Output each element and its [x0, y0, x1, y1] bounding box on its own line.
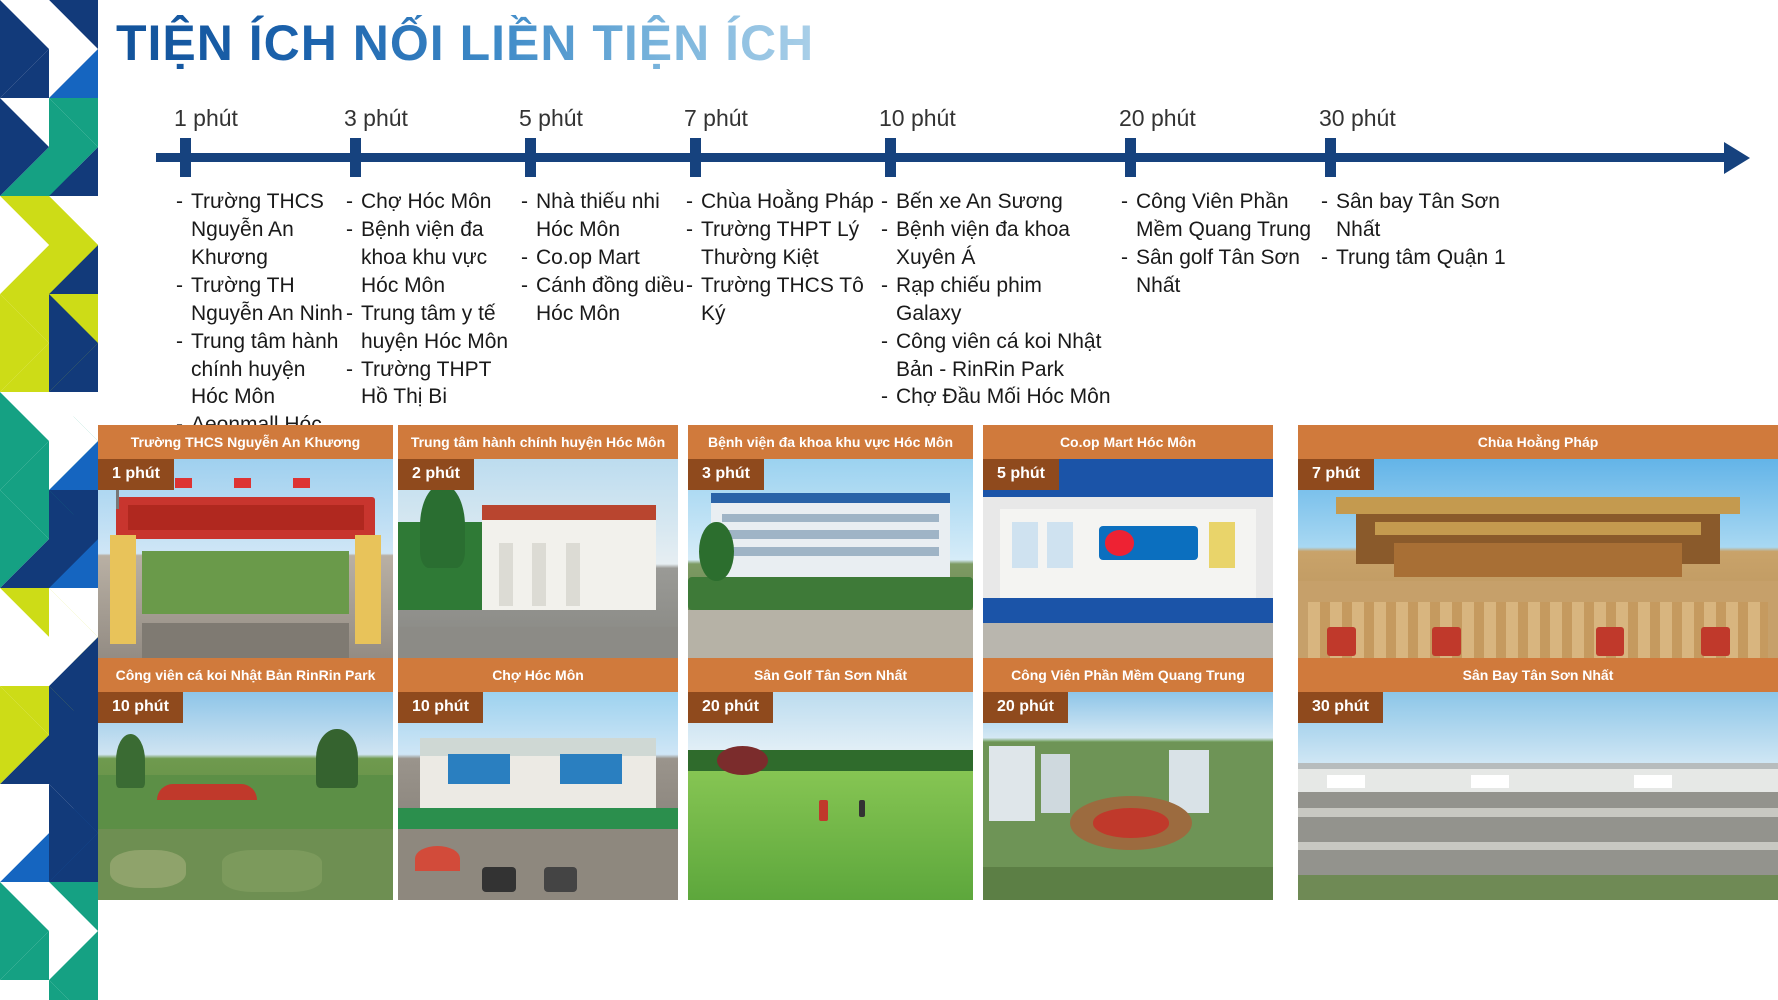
photo-element: [482, 505, 656, 520]
deco-triangle: [49, 784, 98, 882]
card-title: Công viên cá koi Nhật Bản RinRin Park: [98, 658, 393, 692]
timeline-item-label: Bệnh viện đa khoa Xuyên Á: [896, 216, 1111, 272]
photo-element: [566, 543, 580, 606]
card-title: Bệnh viện đa khoa khu vực Hóc Môn: [688, 425, 973, 459]
timeline-list-item: -Bệnh viện đa khoa khu vực Hóc Môn: [346, 216, 521, 300]
deco-triangle: [0, 98, 49, 196]
photo-element: [355, 535, 382, 644]
timeline-tick: [885, 138, 896, 177]
card-time-badge: 2 phút: [398, 459, 474, 490]
timeline-column: 3 phút-Chợ Hóc Môn-Bệnh viện đa khoa khu…: [346, 105, 521, 132]
timeline-item-list: -Sân bay Tân Sơn Nhất-Trung tâm Quận 1: [1321, 188, 1521, 272]
bullet-dash-icon: -: [176, 328, 191, 412]
photo-element: [110, 535, 137, 644]
timeline-list-item: -Trường THPT Lý Thường Kiệt: [686, 216, 881, 272]
deco-triangle: [0, 980, 49, 1000]
photo-card-row-2: Công viên cá koi Nhật Bản RinRin Park10 …: [98, 658, 1778, 900]
photo-card[interactable]: Co.op Mart Hóc Môn5 phút: [983, 425, 1273, 669]
photo-element: [222, 850, 322, 892]
deco-triangle: [49, 196, 98, 294]
bullet-dash-icon: -: [346, 216, 361, 300]
bullet-dash-icon: -: [1121, 188, 1136, 244]
photo-element: [110, 850, 187, 887]
deco-tile: [49, 784, 98, 882]
photo-element: [1105, 530, 1134, 555]
deco-triangle: [49, 882, 98, 980]
deco-triangle: [49, 392, 98, 490]
bullet-dash-icon: -: [881, 272, 896, 328]
photo-element: [1047, 522, 1073, 568]
photo-element: [415, 846, 460, 871]
photo-element: [142, 551, 349, 614]
timeline-column: 5 phút-Nhà thiếu nhi Hóc Môn-Co.op Mart-…: [521, 105, 686, 132]
timeline-time-label: 20 phút: [1119, 105, 1321, 132]
deco-triangle: [0, 196, 49, 294]
photo-element: [1327, 775, 1365, 787]
timeline-item-label: Trường TH Nguyễn An Ninh: [191, 272, 346, 328]
photo-card[interactable]: Công viên cá koi Nhật Bản RinRin Park10 …: [98, 658, 393, 900]
photo-element: [116, 734, 146, 788]
timeline-list-item: -Cánh đồng diều Hóc Môn: [521, 272, 686, 328]
decorative-geometric-band: [0, 0, 98, 1000]
timeline-column: 30 phút-Sân bay Tân Sơn Nhất-Trung tâm Q…: [1321, 105, 1521, 132]
timeline-column: 7 phút-Chùa Hoằng Pháp-Trường THPT Lý Th…: [686, 105, 881, 132]
timeline-axis: [156, 153, 1726, 162]
card-photo: 2 phút: [398, 459, 678, 669]
deco-tile: [49, 882, 98, 980]
photo-card[interactable]: Trường THCS Nguyễn An Khương1 phút: [98, 425, 393, 669]
photo-element: [1432, 627, 1461, 656]
timeline-item-label: Trung tâm Quận 1: [1336, 244, 1521, 272]
timeline-time-label: 7 phút: [684, 105, 881, 132]
card-title: Sân Golf Tân Sơn Nhất: [688, 658, 973, 692]
timeline-column: 20 phút-Công Viên Phần Mềm Quang Trung-S…: [1121, 105, 1321, 132]
photo-element: [983, 598, 1273, 623]
timeline-list-item: -Chợ Đầu Mối Hóc Môn: [881, 383, 1111, 411]
photo-element: [316, 729, 357, 787]
photo-element: [1298, 808, 1778, 816]
timeline-tick: [1125, 138, 1136, 177]
timeline-list-item: -Trung tâm y tế huyện Hóc Môn: [346, 300, 521, 356]
deco-triangle: [0, 686, 49, 784]
deco-tile: [49, 980, 98, 1000]
photo-card[interactable]: Chùa Hoằng Pháp7 phút: [1298, 425, 1778, 669]
main-content: TIỆN ÍCH NỐI LIỀN TIỆN ÍCH 1 phút-Trường…: [98, 0, 1778, 1000]
deco-tile: [49, 0, 98, 98]
bullet-dash-icon: -: [521, 188, 536, 244]
bullet-dash-icon: -: [521, 272, 536, 328]
card-title: Chùa Hoằng Pháp: [1298, 425, 1778, 459]
photo-element: [859, 800, 865, 817]
card-time-badge: 10 phút: [98, 692, 183, 723]
timeline-list-item: -Trung tâm hành chính huyện Hóc Môn: [176, 328, 346, 412]
photo-element: [819, 800, 828, 821]
timeline-list-item: -Rạp chiếu phim Galaxy: [881, 272, 1111, 328]
photo-school-gate: [98, 459, 393, 669]
page-title: TIỆN ÍCH NỐI LIỀN TIỆN ÍCH: [116, 14, 814, 72]
timeline-item-list: -Công Viên Phần Mềm Quang Trung-Sân golf…: [1121, 188, 1321, 300]
deco-triangle: [49, 686, 98, 784]
photo-admin-center: [398, 459, 678, 669]
deco-triangle: [0, 784, 49, 882]
timeline-list-item: -Bệnh viện đa khoa Xuyên Á: [881, 216, 1111, 272]
photo-coopmart: [983, 459, 1273, 669]
deco-tile: [49, 490, 98, 588]
photo-element: [1327, 627, 1356, 656]
card-time-badge: 20 phút: [688, 692, 773, 723]
timeline-list-item: -Trung tâm Quận 1: [1321, 244, 1521, 272]
photo-element: [398, 808, 678, 829]
photo-element: [1012, 522, 1038, 568]
card-time-badge: 10 phút: [398, 692, 483, 723]
timeline-item-label: Rạp chiếu phim Galaxy: [896, 272, 1111, 328]
photo-element: [688, 577, 973, 611]
timeline-item-label: Trường THCS Tô Ký: [701, 272, 881, 328]
timeline-list-item: -Co.op Mart: [521, 244, 686, 272]
deco-triangle: [0, 490, 49, 588]
timeline-item-list: -Chợ Hóc Môn-Bệnh viện đa khoa khu vực H…: [346, 188, 521, 411]
card-title: Công Viên Phần Mềm Quang Trung: [983, 658, 1273, 692]
timeline-item-label: Trung tâm hành chính huyện Hóc Môn: [191, 328, 346, 412]
timeline-tick: [350, 138, 361, 177]
photo-element: [699, 522, 733, 581]
card-title: Co.op Mart Hóc Môn: [983, 425, 1273, 459]
timeline-item-label: Trường THPT Hồ Thị Bi: [361, 356, 521, 412]
card-title: Sân Bay Tân Sơn Nhất: [1298, 658, 1778, 692]
timeline-list-item: -Trường THPT Hồ Thị Bi: [346, 356, 521, 412]
deco-tile: [49, 294, 98, 392]
photo-element: [711, 493, 950, 504]
timeline-column: 10 phút-Bến xe An Sương-Bệnh viện đa kho…: [881, 105, 1111, 132]
card-time-badge: 20 phút: [983, 692, 1068, 723]
timeline-item-label: Trường THCS Nguyễn An Khương: [191, 188, 346, 272]
photo-market: [398, 692, 678, 900]
deco-triangle: [0, 882, 49, 980]
timeline-list-item: -Chùa Hoằng Pháp: [686, 188, 881, 216]
bullet-dash-icon: -: [521, 244, 536, 272]
timeline-item-list: -Bến xe An Sương-Bệnh viện đa khoa Xuyên…: [881, 188, 1111, 411]
timeline-list-item: -Trường THCS Tô Ký: [686, 272, 881, 328]
photo-hospital: [688, 459, 973, 669]
card-photo: 7 phút: [1298, 459, 1778, 669]
timeline-arrow-icon: [1724, 142, 1750, 174]
bullet-dash-icon: -: [1121, 244, 1136, 300]
photo-element: [1596, 627, 1625, 656]
photo-element: [157, 784, 257, 801]
timeline-list-item: -Trường TH Nguyễn An Ninh: [176, 272, 346, 328]
bullet-dash-icon: -: [176, 272, 191, 328]
photo-card[interactable]: Sân Bay Tân Sơn Nhất30 phút: [1298, 658, 1778, 900]
photo-element: [989, 746, 1035, 821]
card-photo: 30 phút: [1298, 692, 1778, 900]
photo-card[interactable]: Công Viên Phần Mềm Quang Trung20 phút: [983, 658, 1273, 900]
deco-triangle: [0, 0, 49, 98]
photo-element: [448, 754, 510, 783]
photo-airport: [1298, 692, 1778, 900]
bullet-dash-icon: -: [881, 383, 896, 411]
timeline-item-label: Trung tâm y tế huyện Hóc Môn: [361, 300, 521, 356]
card-time-badge: 3 phút: [688, 459, 764, 490]
timeline-item-label: Chợ Đầu Mối Hóc Môn: [896, 383, 1111, 411]
photo-element: [1298, 875, 1778, 900]
timeline-item-label: Cánh đồng diều Hóc Môn: [536, 272, 686, 328]
timeline-item-label: Công Viên Phần Mềm Quang Trung: [1136, 188, 1321, 244]
card-time-badge: 5 phút: [983, 459, 1059, 490]
timeline-list-item: -Chợ Hóc Môn: [346, 188, 521, 216]
photo-element: [722, 547, 939, 555]
bullet-dash-icon: -: [1321, 244, 1336, 272]
photo-element: [499, 543, 513, 606]
timeline-time-label: 5 phút: [519, 105, 686, 132]
photo-element: [128, 505, 364, 530]
timeline-list-item: -Công Viên Phần Mềm Quang Trung: [1121, 188, 1321, 244]
timeline-item-label: Trường THPT Lý Thường Kiệt: [701, 216, 881, 272]
photo-element: [1041, 754, 1070, 812]
card-time-badge: 30 phút: [1298, 692, 1383, 723]
deco-triangle: [0, 294, 49, 392]
deco-triangle: [49, 588, 98, 686]
photo-pagoda: [1298, 459, 1778, 669]
timeline-item-label: Bệnh viện đa khoa khu vực Hóc Môn: [361, 216, 521, 300]
timeline-list-item: -Bến xe An Sương: [881, 188, 1111, 216]
photo-element: [1701, 627, 1730, 656]
photo-card[interactable]: Bệnh viện đa khoa khu vực Hóc Môn3 phút: [688, 425, 973, 669]
photo-card[interactable]: Trung tâm hành chính huyện Hóc Môn2 phút: [398, 425, 678, 669]
photo-element: [1209, 522, 1235, 568]
photo-element: [717, 746, 768, 775]
card-photo: 20 phút: [983, 692, 1273, 900]
card-title: Trung tâm hành chính huyện Hóc Môn: [398, 425, 678, 459]
bullet-dash-icon: -: [346, 356, 361, 412]
bullet-dash-icon: -: [881, 328, 896, 384]
bullet-dash-icon: -: [686, 272, 701, 328]
timeline-tick: [525, 138, 536, 177]
card-photo: 3 phút: [688, 459, 973, 669]
photo-element: [688, 771, 973, 900]
photo-element: [722, 514, 939, 522]
timeline-list-item: -Sân golf Tân Sơn Nhất: [1121, 244, 1321, 300]
photo-element: [532, 543, 546, 606]
photo-card[interactable]: Sân Golf Tân Sơn Nhất20 phút: [688, 658, 973, 900]
photo-card[interactable]: Chợ Hóc Môn10 phút: [398, 658, 678, 900]
bullet-dash-icon: -: [346, 300, 361, 356]
photo-element: [1308, 602, 1769, 661]
deco-triangle: [49, 98, 98, 196]
card-photo: 5 phút: [983, 459, 1273, 669]
timeline-item-label: Nhà thiếu nhi Hóc Môn: [536, 188, 686, 244]
bullet-dash-icon: -: [881, 216, 896, 272]
deco-tile: [49, 392, 98, 490]
timeline-item-label: Chùa Hoằng Pháp: [701, 188, 881, 216]
bullet-dash-icon: -: [881, 188, 896, 216]
photo-element: [420, 484, 465, 568]
timeline-column: 1 phút-Trường THCS Nguyễn An Khương-Trườ…: [176, 105, 346, 132]
photo-software-park: [983, 692, 1273, 900]
photo-element: [1336, 497, 1739, 514]
card-photo: 1 phút: [98, 459, 393, 669]
bullet-dash-icon: -: [1321, 188, 1336, 244]
bullet-dash-icon: -: [346, 188, 361, 216]
card-photo: 10 phút: [98, 692, 393, 900]
timeline-list-item: -Nhà thiếu nhi Hóc Môn: [521, 188, 686, 244]
deco-triangle: [0, 392, 49, 490]
photo-element: [1093, 808, 1168, 837]
deco-triangle: [49, 294, 98, 392]
timeline-item-label: Bến xe An Sương: [896, 188, 1111, 216]
photo-element: [482, 867, 516, 892]
timeline-item-list: -Nhà thiếu nhi Hóc Môn-Co.op Mart-Cánh đ…: [521, 188, 686, 328]
photo-element: [1634, 775, 1672, 787]
photo-element: [1471, 775, 1509, 787]
bullet-dash-icon: -: [686, 188, 701, 216]
timeline-list-item: -Sân bay Tân Sơn Nhất: [1321, 188, 1521, 244]
photo-element: [1375, 522, 1701, 535]
deco-tile: [49, 686, 98, 784]
timeline-item-label: Sân bay Tân Sơn Nhất: [1336, 188, 1521, 244]
deco-triangle: [0, 588, 49, 686]
deco-tile: [49, 196, 98, 294]
card-time-badge: 7 phút: [1298, 459, 1374, 490]
deco-triangle: [49, 0, 98, 98]
timeline-time-label: 10 phút: [879, 105, 1111, 132]
photo-card-row-1: Trường THCS Nguyễn An Khương1 phútTrung …: [98, 425, 1778, 669]
timeline-list-item: -Trường THCS Nguyễn An Khương: [176, 188, 346, 272]
card-title: Chợ Hóc Môn: [398, 658, 678, 692]
card-time-badge: 1 phút: [98, 459, 174, 490]
timeline-time-label: 1 phút: [174, 105, 346, 132]
photo-koi-park: [98, 692, 393, 900]
photo-element: [1394, 543, 1682, 577]
timeline-tick: [180, 138, 191, 177]
timeline-item-label: Chợ Hóc Môn: [361, 188, 521, 216]
timeline-item-list: -Chùa Hoằng Pháp-Trường THPT Lý Thường K…: [686, 188, 881, 328]
timeline-item-label: Co.op Mart: [536, 244, 686, 272]
timeline-tick: [1325, 138, 1336, 177]
photo-element: [722, 530, 939, 538]
deco-triangle: [49, 490, 98, 588]
photo-element: [1298, 763, 1778, 769]
deco-triangle: [49, 980, 98, 1000]
timeline-item-label: Công viên cá koi Nhật Bản - RinRin Park: [896, 328, 1111, 384]
deco-tile: [49, 98, 98, 196]
timeline-item-label: Sân golf Tân Sơn Nhất: [1136, 244, 1321, 300]
deco-tile: [49, 588, 98, 686]
timeline: 1 phút-Trường THCS Nguyễn An Khương-Trườ…: [98, 105, 1778, 425]
photo-element: [234, 478, 252, 489]
photo-element: [983, 867, 1273, 900]
photo-element: [293, 478, 311, 489]
photo-element: [175, 478, 193, 489]
card-photo: 10 phút: [398, 692, 678, 900]
card-title: Trường THCS Nguyễn An Khương: [98, 425, 393, 459]
photo-element: [1298, 842, 1778, 850]
photo-golf: [688, 692, 973, 900]
card-photo: 20 phút: [688, 692, 973, 900]
bullet-dash-icon: -: [686, 216, 701, 272]
photo-element: [560, 754, 622, 783]
timeline-list-item: -Công viên cá koi Nhật Bản - RinRin Park: [881, 328, 1111, 384]
photo-element: [544, 867, 578, 892]
timeline-time-label: 3 phút: [344, 105, 521, 132]
timeline-time-label: 30 phút: [1319, 105, 1521, 132]
timeline-tick: [690, 138, 701, 177]
bullet-dash-icon: -: [176, 188, 191, 272]
